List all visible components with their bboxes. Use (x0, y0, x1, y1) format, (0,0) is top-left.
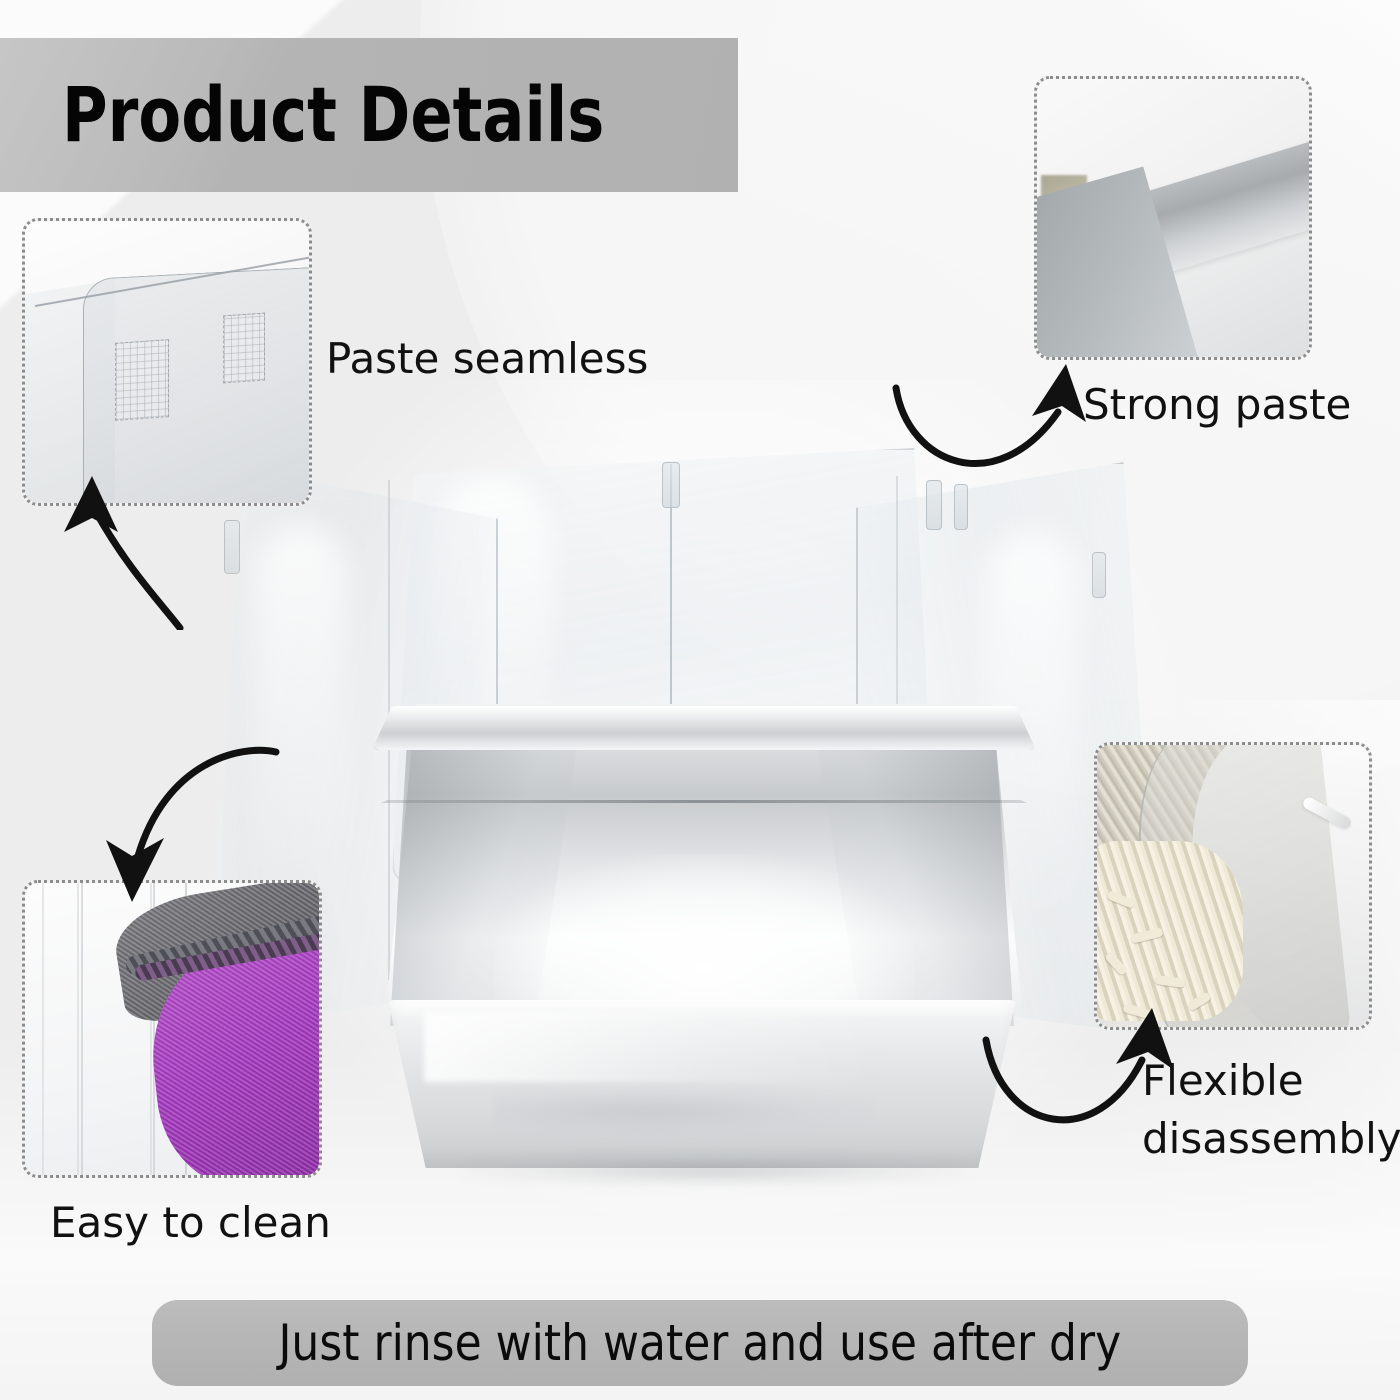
velcro-patch-left (115, 339, 169, 421)
feature-label-flexible-disassembly: Flexible disassembly (1142, 1052, 1392, 1168)
inset-photo-strong-paste (1034, 76, 1312, 360)
velcro-patch-right (223, 313, 265, 384)
flexible-disassembly-photo (1097, 745, 1369, 1027)
stainless-litter-basin (344, 704, 1060, 1164)
footer-caption: Just rinse with water and use after dry (279, 1315, 1122, 1371)
feature-label-easy-to-clean: Easy to clean (50, 1198, 331, 1248)
feature-label-strong-paste: Strong paste (1083, 380, 1351, 430)
arrow-to-easy-clean (70, 740, 280, 910)
arrow-to-paste-seamless (30, 470, 230, 630)
basin-rim-shadow-line (374, 800, 1034, 803)
page-title: Product Details (62, 77, 604, 153)
easy-to-clean-photo (25, 883, 319, 1175)
basin-front-sheen (424, 1012, 884, 1082)
inset-photo-easy-to-clean (22, 880, 322, 1178)
inset-photo-paste-seamless (22, 218, 312, 506)
inset-photo-flexible-disassembly (1094, 742, 1372, 1030)
strong-paste-photo (1037, 79, 1309, 357)
splash-guard-tab-center (662, 462, 680, 508)
plank-seam-1 (81, 883, 83, 1175)
basin-rim (372, 706, 1036, 750)
footer-banner: Just rinse with water and use after dry (152, 1300, 1248, 1386)
basin-front-reflection (494, 1084, 874, 1138)
feature-label-paste-seamless: Paste seamless (326, 334, 648, 384)
basin-drop-shadow (464, 1156, 964, 1186)
splash-guard-tab-right-c (1092, 552, 1106, 598)
litter-pellets-foreground (1097, 841, 1243, 1021)
page-title-banner: Product Details (0, 38, 738, 192)
arrow-to-strong-paste (890, 360, 1100, 500)
paste-seamless-photo (25, 221, 309, 503)
infographic-canvas: Product Details (0, 0, 1400, 1400)
